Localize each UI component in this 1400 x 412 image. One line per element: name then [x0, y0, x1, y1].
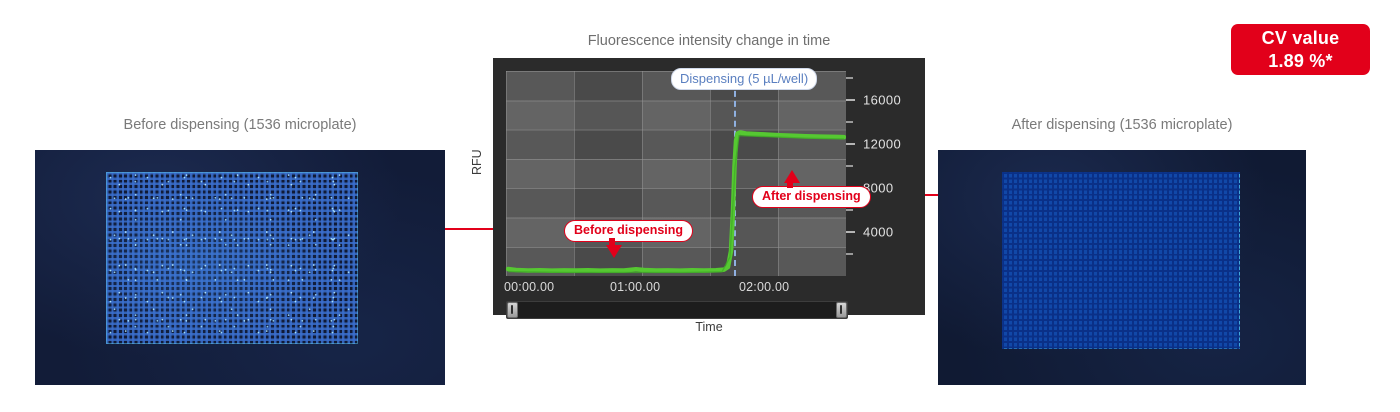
cv-value-title: CV value — [1262, 27, 1340, 50]
range-slider-right-handle[interactable] — [836, 302, 847, 318]
after-dispensing-plate-image — [938, 150, 1306, 385]
y-tick-label-12000: 12000 — [863, 137, 901, 152]
y-tick-minor — [846, 165, 853, 167]
before-dispensing-plate-image — [35, 150, 445, 385]
y-tick-minor — [846, 77, 853, 79]
before-dispensing-well-grid — [106, 172, 358, 344]
after-dispensing-well-grid — [1002, 172, 1240, 349]
y-tick-4000 — [846, 231, 855, 233]
y-tick-label-4000: 4000 — [863, 225, 894, 240]
after-dispensing-caption: After dispensing (1536 microplate) — [938, 117, 1306, 133]
y-tick-12000 — [846, 143, 855, 145]
before-dispensing-annotation-label: Before dispensing — [564, 220, 693, 242]
y-tick-minor — [846, 209, 853, 211]
x-tick-label-0: 00:00.00 — [504, 280, 554, 294]
plate-speckle — [106, 172, 358, 344]
dispensing-annotation-label: Dispensing (5 µL/well) — [671, 68, 817, 90]
y-tick-minor — [846, 253, 853, 255]
after-dispensing-annotation-label: After dispensing — [752, 186, 871, 208]
y-axis-title: RFU — [470, 149, 484, 175]
after-dispensing-arrow-icon — [784, 170, 800, 183]
cv-value-badge: CV value 1.89 %* — [1231, 24, 1370, 75]
before-dispensing-caption: Before dispensing (1536 microplate) — [35, 117, 445, 133]
range-slider-left-handle[interactable] — [507, 302, 518, 318]
y-tick-minor — [846, 121, 853, 123]
x-tick-label-2: 02:00.00 — [739, 280, 789, 294]
x-axis-title: Time — [493, 320, 925, 334]
chart-range-slider[interactable] — [506, 301, 848, 319]
before-dispensing-arrow-icon — [606, 245, 622, 258]
handle-slot — [840, 305, 842, 314]
handle-slot — [511, 305, 513, 314]
y-tick-label-16000: 16000 — [863, 93, 901, 108]
chart-title: Fluorescence intensity change in time — [493, 33, 925, 49]
x-tick-label-1: 01:00.00 — [610, 280, 660, 294]
y-axis-ticks — [846, 71, 860, 276]
well-grid-lines — [1002, 172, 1240, 349]
cv-value-number: 1.89 %* — [1268, 50, 1332, 73]
y-tick-16000 — [846, 99, 855, 101]
